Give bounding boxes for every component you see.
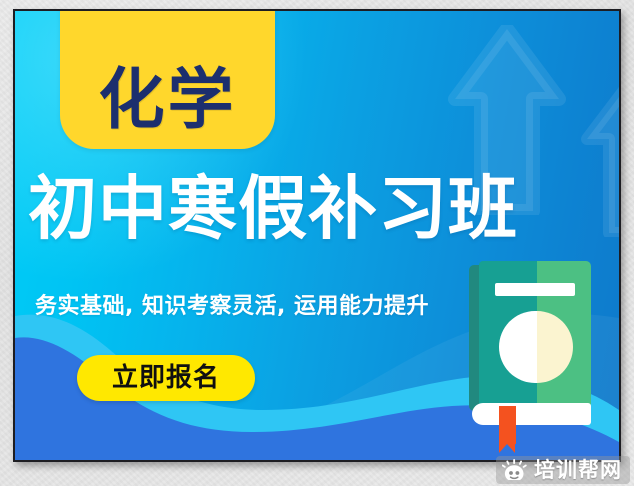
book-illustration (469, 261, 591, 421)
subject-badge: 化学 (60, 11, 275, 149)
page-background: 化学 初中寒假补习班 务实基础, 知识考察灵活, 运用能力提升 立即报名 (0, 0, 634, 486)
watermark: 培训帮网 (496, 456, 630, 484)
sun-face-icon (502, 459, 527, 481)
promo-banner: 化学 初中寒假补习班 务实基础, 知识考察灵活, 运用能力提升 立即报名 (15, 11, 619, 460)
enroll-now-button[interactable]: 立即报名 (77, 355, 255, 401)
enroll-now-button-label: 立即报名 (112, 365, 220, 391)
watermark-label: 培训帮网 (534, 460, 622, 481)
banner-title: 初中寒假补习班 (28, 174, 614, 246)
banner-subtitle: 务实基础, 知识考察灵活, 运用能力提升 (35, 288, 429, 320)
book-bookmark-ribbon (499, 406, 516, 444)
book-pages (472, 403, 591, 425)
book-title-band (495, 283, 575, 296)
subject-badge-label: 化学 (99, 67, 237, 133)
banner-frame: 化学 初中寒假补习班 务实基础, 知识考察灵活, 运用能力提升 立即报名 (13, 9, 621, 462)
